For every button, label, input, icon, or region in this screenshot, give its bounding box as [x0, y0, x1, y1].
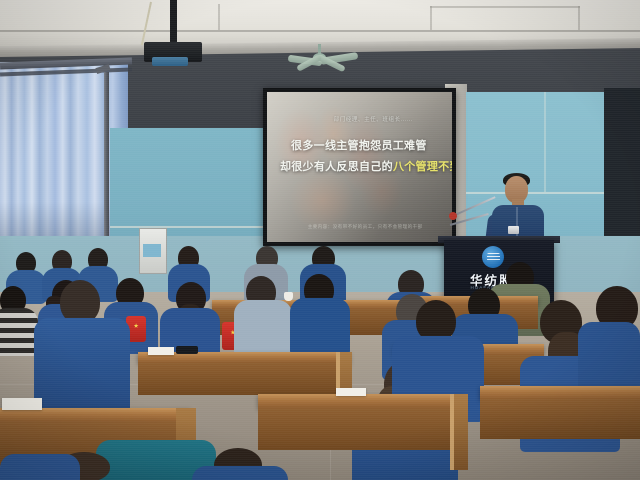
document-sheet	[2, 398, 42, 410]
desk-front-panel	[138, 363, 350, 395]
document-sheet	[148, 347, 174, 355]
microphone-head-icon	[449, 212, 457, 220]
slide-footer-text: 主要内容：没有带不好的员工，只有不会管理的干部	[308, 224, 423, 230]
ceiling-panel-line	[430, 6, 432, 30]
cabinet-label	[143, 244, 161, 257]
projector-lens-icon	[152, 57, 188, 66]
desk-surface	[258, 394, 464, 408]
projector-mount-pole	[170, 0, 177, 45]
wall-panel-line	[466, 192, 618, 194]
mobile-phone	[176, 346, 198, 354]
ceiling-seam	[0, 30, 640, 32]
desk-surface	[0, 408, 190, 422]
wall-panel-line	[544, 92, 546, 192]
audience-torso	[0, 308, 38, 356]
audience-torso	[34, 318, 130, 414]
audience-torso	[290, 298, 350, 356]
wall-panel-line	[110, 226, 275, 228]
desk-surface	[480, 386, 640, 399]
document-sheet	[336, 388, 366, 396]
desk-front-panel	[258, 408, 464, 450]
slide-kicker-text: 部门经理、主任、班组长……	[334, 115, 413, 123]
desk-edge	[450, 394, 454, 470]
audience-torso	[192, 466, 288, 480]
wall-pipe	[104, 72, 109, 262]
slide-line2-highlight: 八个管理不到位	[393, 161, 452, 173]
ceiling-panel-line	[430, 6, 580, 8]
audience-torso	[234, 300, 292, 356]
slide-headline-line2: 却很少有人反思自己的八个管理不到位	[280, 158, 452, 174]
screen-surface: 部门经理、主任、班组长…… 很多一线主管抱怨员工难管 却很少有人反思自己的八个管…	[267, 92, 452, 242]
projection-screen: 部门经理、主任、班组长…… 很多一线主管抱怨员工难管 却很少有人反思自己的八个管…	[263, 88, 456, 246]
desk-front-panel	[480, 399, 640, 439]
paper-cup	[284, 292, 293, 301]
slide-line2-prefix: 却很少有人反思自己的	[280, 161, 393, 173]
audience-torso	[0, 454, 80, 480]
slide-headline-line1: 很多一线主管抱怨员工难管	[291, 137, 427, 153]
huafang-circle-logo	[482, 246, 504, 268]
ceiling-panel-line	[578, 6, 580, 30]
name-badge	[508, 226, 519, 234]
ceiling-panel-line	[218, 4, 220, 30]
meeting-room-photo: 部门经理、主任、班组长…… 很多一线主管抱怨员工难管 却很少有人反思自己的八个管…	[0, 0, 640, 480]
